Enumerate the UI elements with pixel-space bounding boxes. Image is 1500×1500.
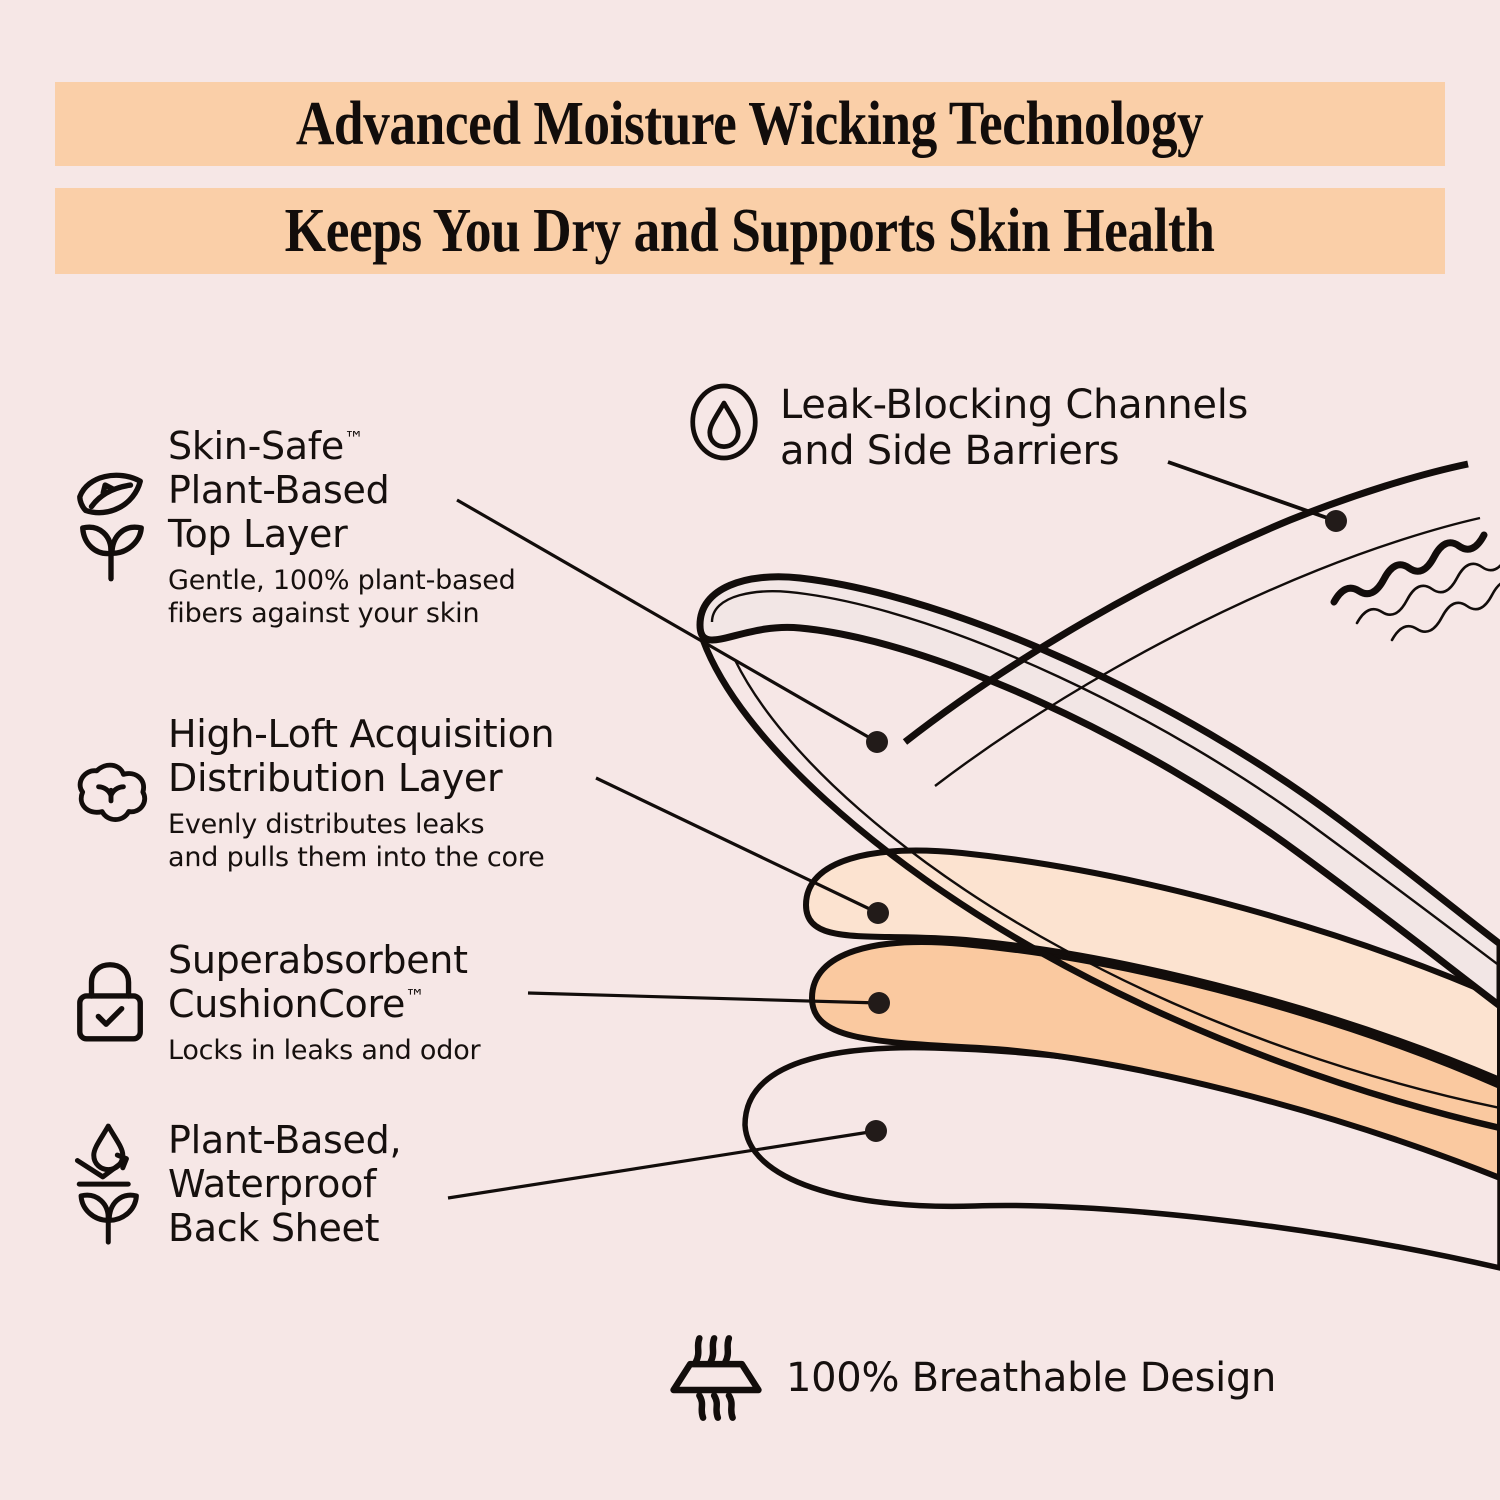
feature-core-subtitle: Locks in leaks and odor xyxy=(168,1035,480,1067)
feature-skin-safe-top-layer: Skin-Safe™ Plant-Based Top Layer Gentle,… xyxy=(72,424,516,630)
breathable-airflow-icon xyxy=(668,1336,764,1420)
sub-line-2: fibers against your skin xyxy=(168,598,479,629)
dot-top-sheet xyxy=(866,731,888,753)
feature-leak-blocking-channels: Leak-Blocking Channels and Side Barriers xyxy=(688,382,1248,475)
feature-breathable-title: 100% Breathable Design xyxy=(786,1355,1276,1401)
title-line-2: Waterproof xyxy=(168,1162,376,1206)
feature-back-sheet-title: Plant-Based, Waterproof Back Sheet xyxy=(168,1118,401,1250)
droplet-circle-icon xyxy=(688,382,760,462)
waterproof-plant-icon xyxy=(72,1118,150,1250)
title-line-1: Superabsorbent xyxy=(168,938,468,982)
feature-core-text: Superabsorbent CushionCore™ Locks in lea… xyxy=(168,938,480,1068)
feature-waterproof-back-sheet: Plant-Based, Waterproof Back Sheet xyxy=(72,1118,401,1250)
feature-core-title: Superabsorbent CushionCore™ xyxy=(168,938,480,1026)
sub-line-2: and pulls them into the core xyxy=(168,842,545,873)
trademark-symbol: ™ xyxy=(344,427,363,450)
title-line-2: CushionCore xyxy=(168,982,405,1026)
dot-core xyxy=(868,992,890,1014)
title-line-2: Distribution Layer xyxy=(168,756,502,800)
title-line-1: Plant-Based, xyxy=(168,1118,401,1162)
feature-superabsorbent-core: Superabsorbent CushionCore™ Locks in lea… xyxy=(72,938,480,1068)
dot-back-sheet xyxy=(865,1120,887,1142)
feature-skin-safe-text: Skin-Safe™ Plant-Based Top Layer Gentle,… xyxy=(168,424,516,630)
sub-line-1: Locks in leaks and odor xyxy=(168,1035,480,1066)
feature-adl-title: High-Loft Acquisition Distribution Layer xyxy=(168,712,554,800)
title-line-2: Plant-Based xyxy=(168,468,389,512)
feature-adl-text: High-Loft Acquisition Distribution Layer… xyxy=(168,712,554,874)
title-line-3: Back Sheet xyxy=(168,1206,379,1250)
title-line-2: and Side Barriers xyxy=(780,428,1119,474)
side-barrier-ruffle-thick xyxy=(1334,535,1484,602)
dot-side-barrier xyxy=(1325,510,1347,532)
feature-skin-safe-subtitle: Gentle, 100% plant-based fibers against … xyxy=(168,565,516,630)
feature-leak-title: Leak-Blocking Channels and Side Barriers xyxy=(780,382,1248,475)
title-line-1: Skin-Safe xyxy=(168,424,344,468)
infographic-canvas: Advanced Moisture Wicking Technology Kee… xyxy=(0,0,1500,1500)
title-line-1: Leak-Blocking Channels xyxy=(780,382,1248,428)
title-line-3: Top Layer xyxy=(168,512,347,556)
feature-acquisition-distribution-layer: High-Loft Acquisition Distribution Layer… xyxy=(72,712,554,874)
feature-adl-subtitle: Evenly distributes leaks and pulls them … xyxy=(168,809,554,874)
sub-line-1: Evenly distributes leaks xyxy=(168,809,484,840)
leaf-sprout-icon xyxy=(72,424,150,630)
leader-line-adl xyxy=(596,778,878,913)
cloud-icon xyxy=(72,712,150,874)
dot-adl xyxy=(867,902,889,924)
lock-check-icon xyxy=(72,938,150,1068)
sub-line-1: Gentle, 100% plant-based xyxy=(168,565,516,596)
feature-skin-safe-title: Skin-Safe™ Plant-Based Top Layer xyxy=(168,424,516,556)
feature-leak-text: Leak-Blocking Channels and Side Barriers xyxy=(780,382,1248,475)
feature-breathable-design: 100% Breathable Design xyxy=(668,1336,1276,1420)
side-barrier-wing xyxy=(905,464,1468,742)
title-line-1: High-Loft Acquisition xyxy=(168,712,554,756)
feature-back-sheet-text: Plant-Based, Waterproof Back Sheet xyxy=(168,1118,401,1250)
trademark-symbol: ™ xyxy=(405,985,424,1008)
